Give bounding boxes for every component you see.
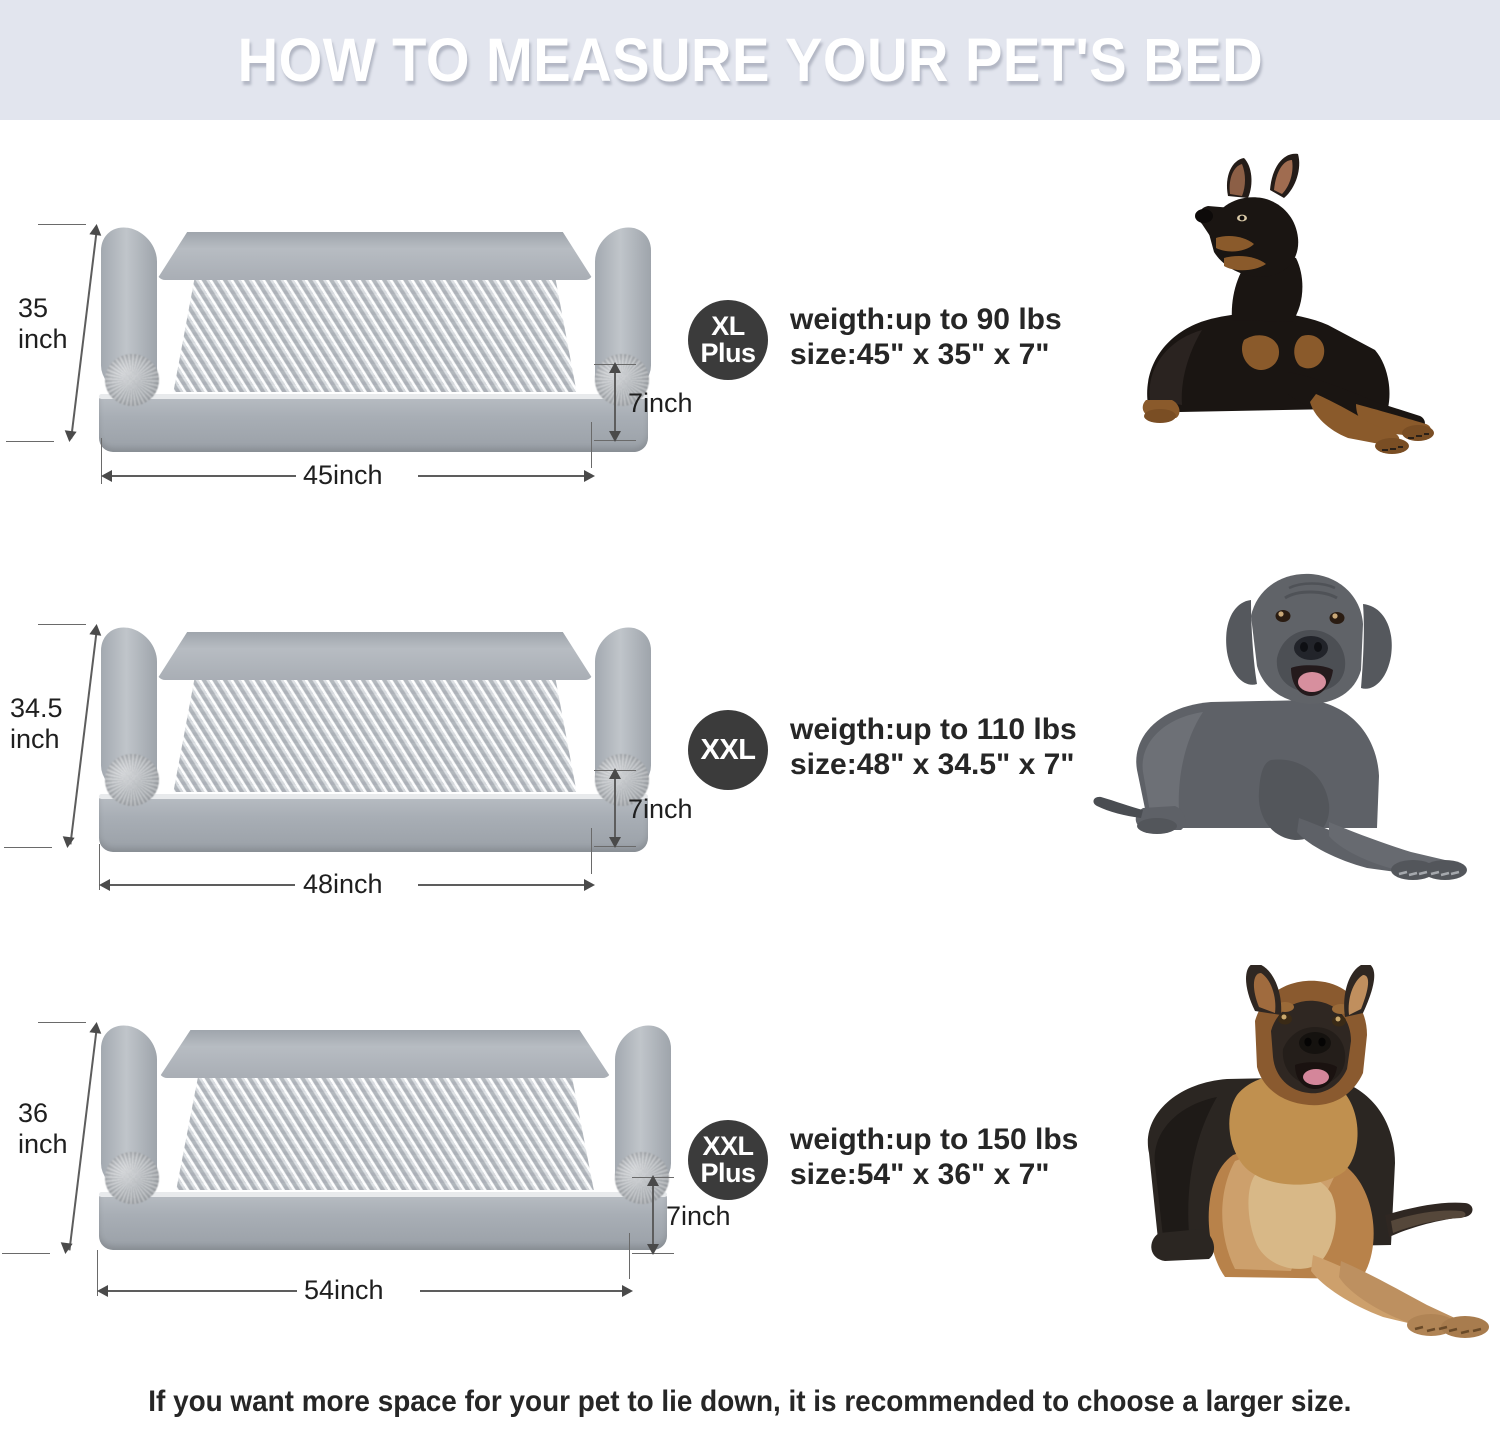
badge-line-2: Plus (700, 1160, 755, 1187)
pet-bed-illustration (95, 222, 655, 452)
dim-tick (38, 1022, 86, 1023)
dim-height-label: 7inch (628, 388, 693, 419)
size-row-xxl: 34.5 inch 48inch 7inch XXL weigth:up to … (0, 560, 1500, 960)
pet-bed-illustration (95, 622, 655, 852)
size-badge-xxl-plus: XXL Plus (688, 1120, 768, 1200)
dim-line-height (614, 366, 616, 440)
dim-width-label: 54inch (304, 1275, 384, 1306)
dim-height-label: 7inch (666, 1201, 731, 1232)
dim-arrow (99, 879, 110, 891)
size-badge-xxl: XXL (688, 710, 768, 790)
german-shepherd-icon (1085, 965, 1500, 1365)
dim-arrow (97, 1285, 108, 1297)
dim-line-width (109, 884, 295, 886)
header-banner: HOW TO MEASURE YOUR PET'S BED (0, 0, 1500, 120)
spec-size: size:45" x 35" x 7" (790, 337, 1062, 372)
dog-photo-doberman (1120, 150, 1500, 550)
badge-line-1: XXL (702, 1133, 753, 1160)
bed-diagram-xl-plus: 35 inch 45inch 7inch (0, 150, 680, 550)
dim-line-depth (68, 1026, 97, 1251)
dim-arrow (647, 1244, 659, 1255)
bed-mattress-texture (173, 662, 576, 792)
dim-arrow (609, 431, 621, 442)
dim-arrow (63, 430, 76, 442)
dim-tick (629, 1233, 630, 1279)
spec-weight: weigth:up to 90 lbs (790, 302, 1062, 337)
bed-base (99, 394, 648, 452)
pet-bed-illustration (95, 1020, 675, 1250)
dim-arrow (101, 470, 112, 482)
dim-line-width (111, 475, 296, 477)
dim-arrow (89, 623, 102, 635)
dim-line-width (418, 475, 584, 477)
badge-line-1: XXL (701, 736, 756, 765)
dim-tick (4, 847, 52, 848)
dim-line-height (652, 1179, 654, 1253)
dim-arrow (609, 362, 621, 373)
dim-depth-label: 34.5 inch (10, 693, 63, 755)
dim-arrow (609, 768, 621, 779)
bed-base (99, 794, 648, 852)
dim-tick (591, 828, 592, 874)
plush-end-cap-left (105, 1152, 159, 1204)
size-row-xl-plus: 35 inch 45inch 7inch XL Plus weigth:up t… (0, 150, 1500, 550)
bed-diagram-xxl-plus: 36 inch 54inch 7inch (0, 965, 680, 1380)
size-badge-xl-plus: XL Plus (688, 300, 768, 380)
dim-tick (6, 441, 54, 442)
dim-tick (591, 422, 592, 468)
dog-photo-great-dane (1085, 560, 1500, 960)
bed-mattress-texture (176, 1060, 594, 1190)
dim-line-width (107, 1290, 297, 1292)
bolster-back (157, 232, 594, 280)
bed-mattress-texture (173, 262, 576, 392)
badge-line-2: Plus (700, 340, 755, 367)
bolster-back (157, 632, 594, 680)
dim-arrow (609, 837, 621, 848)
footer-note-container: If you want more space for your pet to l… (0, 1385, 1500, 1419)
bolster-back (159, 1030, 611, 1078)
dim-arrow (584, 879, 595, 891)
dim-line-width (420, 1290, 622, 1292)
dim-line-depth (70, 228, 97, 439)
dim-line-depth (69, 628, 97, 845)
dim-depth-label: 36 inch (18, 1098, 68, 1160)
page-title: HOW TO MEASURE YOUR PET'S BED (237, 25, 1263, 95)
dim-arrow (61, 836, 74, 848)
dim-tick (38, 224, 86, 225)
dim-height-label: 7inch (628, 794, 693, 825)
dim-arrow (89, 223, 102, 235)
dim-tick (2, 1253, 50, 1254)
dim-line-width (418, 884, 584, 886)
dim-tick (38, 624, 86, 625)
dog-photo-german-shepherd (1085, 965, 1500, 1380)
dim-arrow (622, 1285, 633, 1297)
plush-end-cap-left (105, 754, 159, 806)
dim-arrow (89, 1021, 102, 1033)
spec-size: size:54" x 36" x 7" (790, 1157, 1078, 1192)
dim-line-height (614, 772, 616, 846)
size-row-xxl-plus: 36 inch 54inch 7inch XXL Plus weigth:up … (0, 965, 1500, 1380)
spec-weight: weigth:up to 110 lbs (790, 712, 1077, 747)
spec-text-xxl: weigth:up to 110 lbs size:48" x 34.5" x … (790, 712, 1077, 782)
dim-width-label: 48inch (303, 869, 383, 900)
plush-end-cap-left (105, 354, 159, 406)
bed-diagram-xxl: 34.5 inch 48inch 7inch (0, 560, 680, 960)
dim-arrow (59, 1242, 72, 1254)
bed-base (99, 1192, 667, 1250)
spec-size: size:48" x 34.5" x 7" (790, 747, 1077, 782)
spec-text-xxl-plus: weigth:up to 150 lbs size:54" x 36" x 7" (790, 1122, 1078, 1192)
doberman-pinscher-icon (1120, 150, 1500, 480)
dim-width-label: 45inch (303, 460, 383, 491)
great-dane-icon (1085, 560, 1500, 890)
dim-arrow (584, 470, 595, 482)
footer-note: If you want more space for your pet to l… (148, 1385, 1351, 1419)
badge-line-1: XL (711, 313, 745, 340)
dim-arrow (647, 1175, 659, 1186)
spec-text-xl-plus: weigth:up to 90 lbs size:45" x 35" x 7" (790, 302, 1062, 372)
dim-depth-label: 35 inch (18, 293, 68, 355)
spec-weight: weigth:up to 150 lbs (790, 1122, 1078, 1157)
